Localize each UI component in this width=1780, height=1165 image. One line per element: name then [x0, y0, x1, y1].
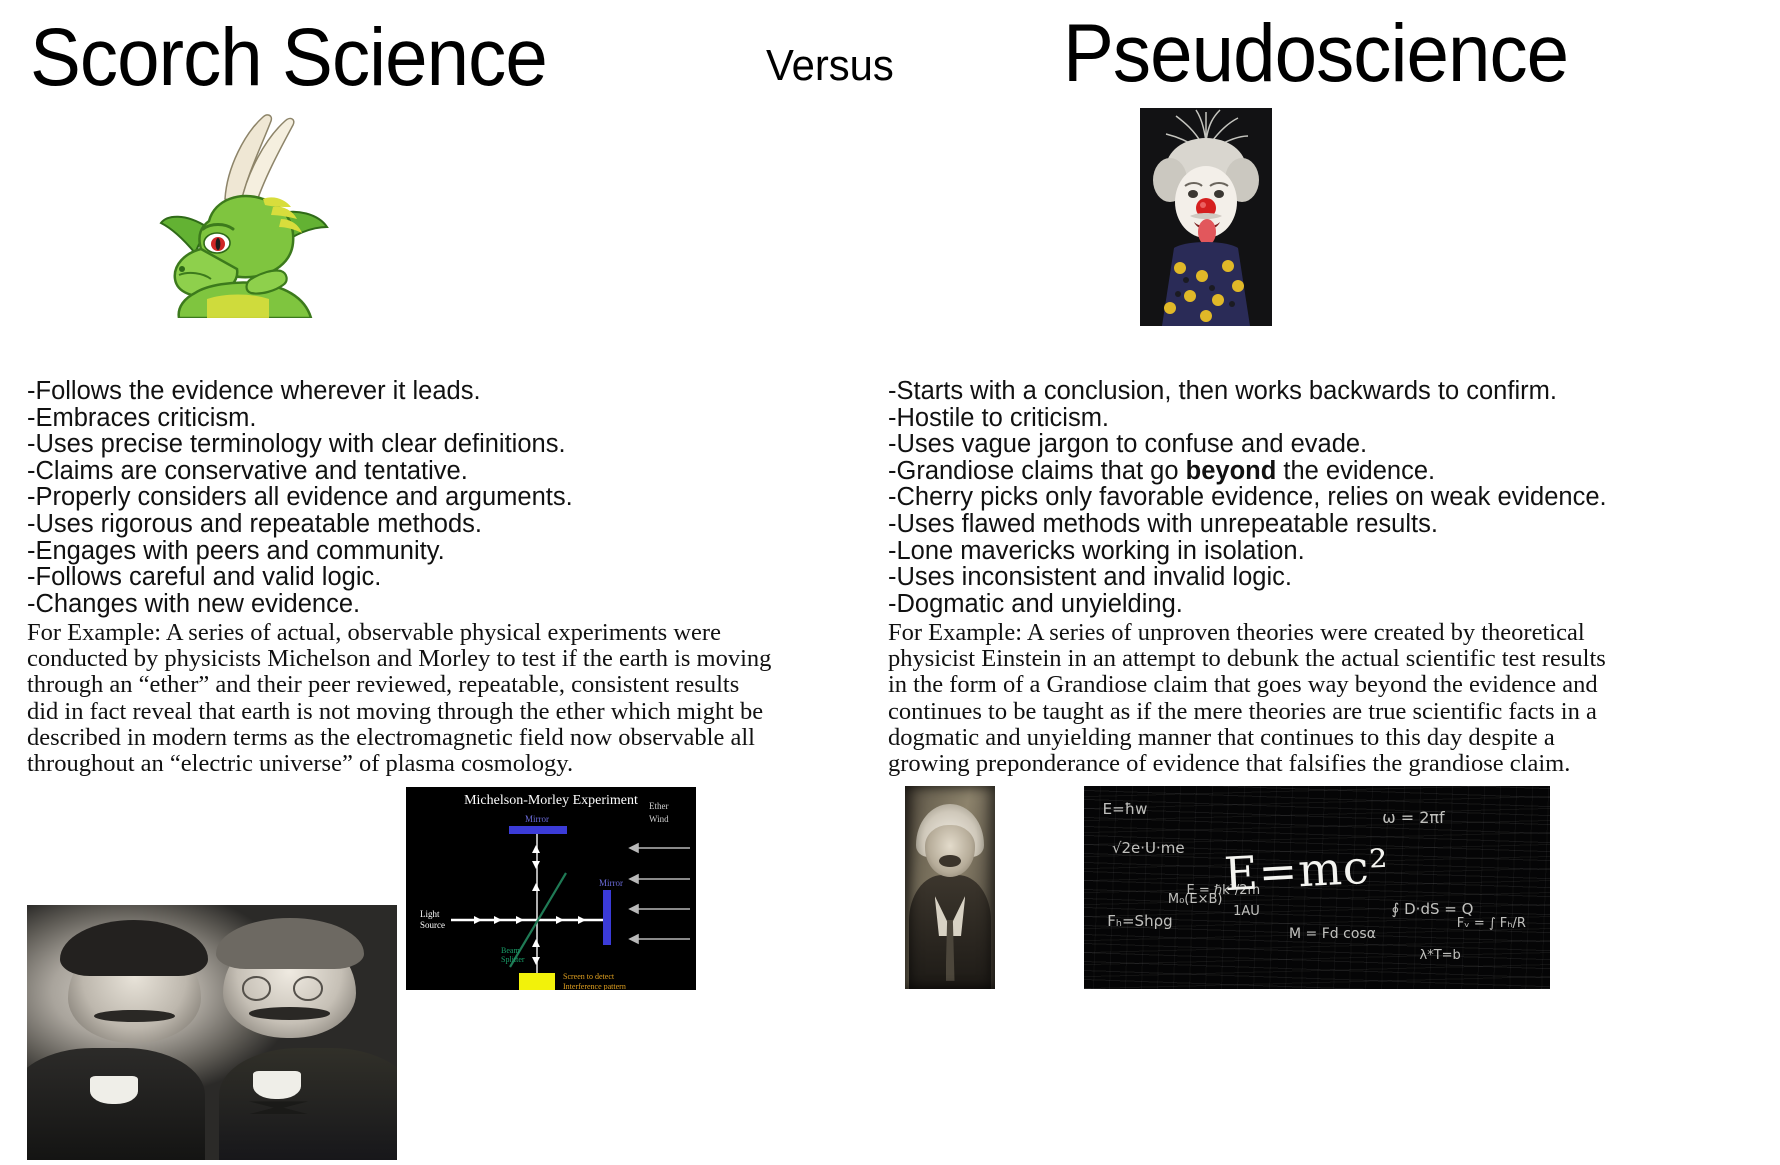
list-item-grandiose: -Grandiose claims that go beyond the evi… — [888, 458, 1607, 485]
diagram-label-light-source-1: Light — [420, 909, 440, 919]
list-item-post: the evidence. — [1276, 457, 1435, 485]
paragraph-line: growing preponderance of evidence that f… — [888, 751, 1588, 777]
paragraph-line: throughout an “electric universe” of pla… — [27, 751, 727, 777]
diagram-label-mirror-right: Mirror — [599, 878, 623, 888]
list-item: -Dogmatic and unyielding. — [888, 591, 1607, 618]
equation-snippet: √2e·U·me — [1112, 839, 1185, 857]
equation-snippet: M = Fd cosα — [1289, 926, 1376, 942]
equation-snippet: Fₕ=Shρg — [1107, 912, 1172, 930]
list-item: -Engages with peers and community. — [27, 538, 573, 565]
pseudoscience-example-paragraph: For Example: A series of unproven theori… — [888, 620, 1588, 777]
list-item: -Uses vague jargon to confuse and evade. — [888, 431, 1607, 458]
paragraph-line: described in modern terms as the electro… — [27, 725, 727, 751]
michelson-morley-experiment-diagram: Michelson-Morley Experiment Mirror Mirro… — [406, 787, 696, 990]
diagram-label-ether-wind-1: Ether — [649, 801, 669, 811]
diagram-label-beam-splitter-1: Beam — [501, 946, 520, 955]
list-item: -Hostile to criticism. — [888, 405, 1607, 432]
equation-snippet: Fᵥ = ∫ Fₕ/R — [1457, 916, 1526, 931]
list-item: -Uses precise terminology with clear def… — [27, 431, 573, 458]
paragraph-line: conducted by physicists Michelson and Mo… — [27, 646, 727, 672]
list-item: -Changes with new evidence. — [27, 591, 573, 618]
versus-label: Versus — [766, 40, 894, 92]
equation-snippet: M₀(E×B) — [1168, 892, 1223, 907]
diagram-label-mirror-top: Mirror — [525, 814, 549, 824]
diagram-label-ether-wind-2: Wind — [649, 814, 669, 824]
header-title-row: Scorch Science Versus Pseudoscience — [0, 6, 1780, 111]
list-item-pre: -Grandiose claims that go — [888, 457, 1186, 485]
science-traits-list: -Follows the evidence wherever it leads.… — [27, 378, 573, 617]
diagram-label-screen-2: Interference pattern — [563, 982, 626, 990]
einstein-laughing-photo — [905, 786, 995, 989]
list-item: -Cherry picks only favorable evidence, r… — [888, 484, 1607, 511]
page-title-right: Pseudoscience — [1063, 6, 1568, 102]
equation-snippet: ω = 2πf — [1382, 808, 1444, 827]
paragraph-line: physicist Einstein in an attempt to debu… — [888, 646, 1588, 672]
paragraph-line: in the form of a Grandiose claim that go… — [888, 672, 1588, 698]
equation-snippet: E=ħw — [1103, 800, 1148, 818]
paragraph-line: For Example: A series of actual, observa… — [27, 620, 727, 646]
list-item: -Claims are conservative and tentative. — [27, 458, 573, 485]
diagram-label-screen-1: Screen to detect — [563, 972, 615, 981]
equation-snippet: λ*T=b — [1420, 948, 1461, 963]
paragraph-line: continues to be taught as if the mere th… — [888, 699, 1588, 725]
paragraph-line: For Example: A series of unproven theori… — [888, 620, 1588, 646]
michelson-morley-portrait-image — [27, 905, 397, 1160]
list-item: -Starts with a conclusion, then works ba… — [888, 378, 1607, 405]
science-example-paragraph: For Example: A series of actual, observa… — [27, 620, 727, 777]
list-item: -Uses inconsistent and invalid logic. — [888, 564, 1607, 591]
list-item: -Uses rigorous and repeatable methods. — [27, 511, 573, 538]
paragraph-line: through an “ether” and their peer review… — [27, 672, 727, 698]
paragraph-line: did in fact reveal that earth is not mov… — [27, 699, 727, 725]
pseudoscience-traits-list: -Starts with a conclusion, then works ba… — [888, 378, 1607, 617]
list-item: -Uses flawed methods with unrepeatable r… — [888, 511, 1607, 538]
equation-snippet: 1AU — [1233, 904, 1260, 919]
list-item: -Follows careful and valid logic. — [27, 564, 573, 591]
diagram-label-light-source-2: Source — [420, 920, 445, 930]
diagram-title: Michelson-Morley Experiment — [464, 793, 638, 808]
list-item-emphasis: beyond — [1186, 457, 1277, 485]
page-title-left: Scorch Science — [30, 10, 547, 106]
featured-equation: E=mc² — [1222, 839, 1390, 902]
diagram-label-beam-splitter-2: Splitter — [501, 955, 525, 964]
list-item: -Embraces criticism. — [27, 405, 573, 432]
list-item: -Properly considers all evidence and arg… — [27, 484, 573, 511]
list-item: -Follows the evidence wherever it leads. — [27, 378, 573, 405]
list-item: -Lone mavericks working in isolation. — [888, 538, 1607, 565]
paragraph-line: dogmatic and unyielding manner that cont… — [888, 725, 1588, 751]
blackboard-equations-image: E=ħw ω = 2πf √2e·U·me Fₕ=Shρg M = Fd cos… — [1084, 786, 1550, 989]
green-dragon-mascot-icon — [155, 103, 340, 318]
einstein-clown-portrait-image — [1140, 108, 1272, 326]
